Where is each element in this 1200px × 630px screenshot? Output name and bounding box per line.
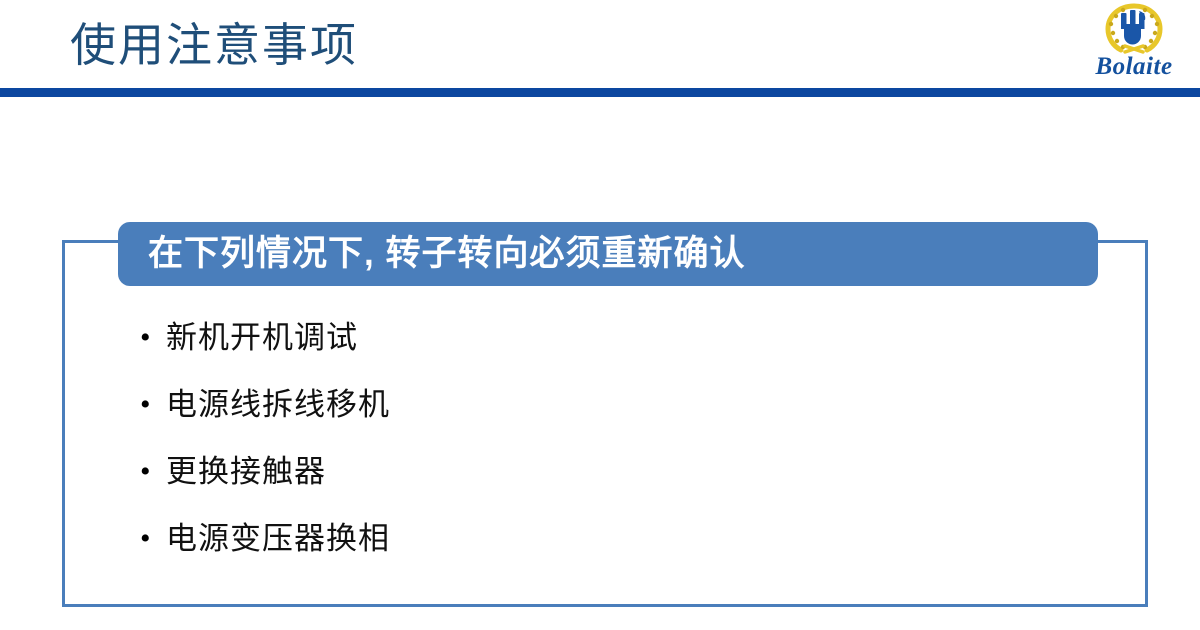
page-title: 使用注意事项 (70, 14, 358, 76)
list-item: • 新机开机调试 (140, 316, 940, 383)
list-item-label: 电源变压器换相 (166, 517, 390, 561)
section-banner-heading: 在下列情况下, 转子转向必须重新确认 (118, 234, 745, 274)
list-item: • 更换接触器 (140, 450, 940, 517)
bullet-marker-icon: • (140, 316, 166, 360)
brand-logo: Bolaite (1073, 2, 1195, 86)
slide-canvas: 使用注意事项 (0, 0, 1200, 630)
list-item-label: 新机开机调试 (166, 316, 358, 360)
bullet-marker-icon: • (140, 517, 166, 561)
list-item-label: 更换接触器 (166, 450, 326, 494)
header-divider-rule (0, 88, 1200, 97)
section-banner: 在下列情况下, 转子转向必须重新确认 (118, 222, 1098, 286)
bullet-marker-icon: • (140, 450, 166, 494)
bullet-list: • 新机开机调试 • 电源线拆线移机 • 更换接触器 • 电源变压器换相 (140, 316, 940, 584)
slide-header: 使用注意事项 (0, 0, 1200, 97)
bullet-marker-icon: • (140, 383, 166, 427)
list-item: • 电源变压器换相 (140, 517, 940, 584)
list-item-label: 电源线拆线移机 (166, 383, 390, 427)
bolaite-emblem-icon (1101, 2, 1167, 54)
list-item: • 电源线拆线移机 (140, 383, 940, 450)
logo-wordmark: Bolaite (1073, 52, 1195, 82)
